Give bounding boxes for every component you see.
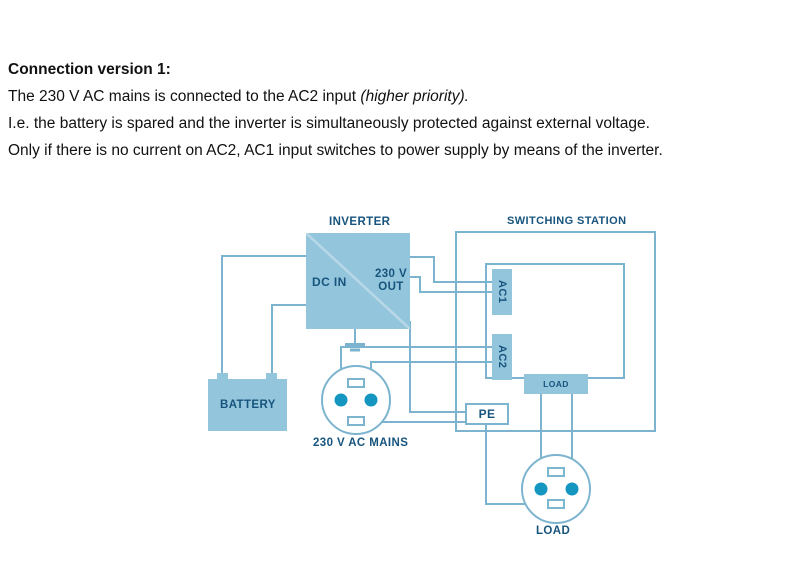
- socket-mains-earth-clip-bottom: [348, 417, 364, 425]
- socket-load-pin-right: [566, 483, 579, 496]
- socket-load-pin-left: [535, 483, 548, 496]
- wire-inverter-to-pe: [410, 321, 466, 412]
- wire-battery-negative: [272, 305, 307, 379]
- wire-inverter-out-to-ac1-line: [410, 257, 495, 282]
- socket-mains: [322, 366, 390, 434]
- inverter-dc-in-label: DC IN: [312, 275, 347, 289]
- inverter-ac-out-label-line1: 230 V: [369, 268, 413, 280]
- socket-mains-earth-clip-top: [348, 379, 364, 387]
- socket-mains-pin-right: [365, 394, 378, 407]
- battery-terminal-negative: [266, 373, 277, 380]
- wire-group: [222, 232, 655, 504]
- terminal-label-load: LOAD: [524, 374, 588, 394]
- battery-label: BATTERY: [220, 399, 276, 411]
- switching-station-title-label: SWITCHING STATION: [507, 215, 626, 227]
- wire-inverter-out-to-ac1-neutral: [410, 277, 495, 292]
- wiring-diagram: INVERTER SWITCHING STATION DC IN 230 V O…: [0, 0, 794, 578]
- terminal-label-ac1: AC1: [492, 269, 512, 315]
- inverter-title-label: INVERTER: [329, 216, 390, 228]
- socket-load-outline: [522, 455, 590, 523]
- mains-caption-label: 230 V AC MAINS: [313, 437, 408, 449]
- inverter-ac-out-label-line2: OUT: [369, 281, 413, 293]
- socket-load: [522, 455, 590, 523]
- socket-load-earth-clip-bottom: [548, 500, 564, 508]
- terminal-label-pe: PE: [466, 404, 508, 424]
- wire-battery-positive: [222, 256, 307, 379]
- socket-mains-pin-left: [335, 394, 348, 407]
- socket-load-earth-clip-top: [548, 468, 564, 476]
- battery-terminal-positive: [217, 373, 228, 380]
- load-caption-label: LOAD: [536, 525, 570, 537]
- diagram-page: Connection version 1: The 230 V AC mains…: [0, 0, 794, 578]
- terminal-label-ac2: AC2: [492, 334, 512, 380]
